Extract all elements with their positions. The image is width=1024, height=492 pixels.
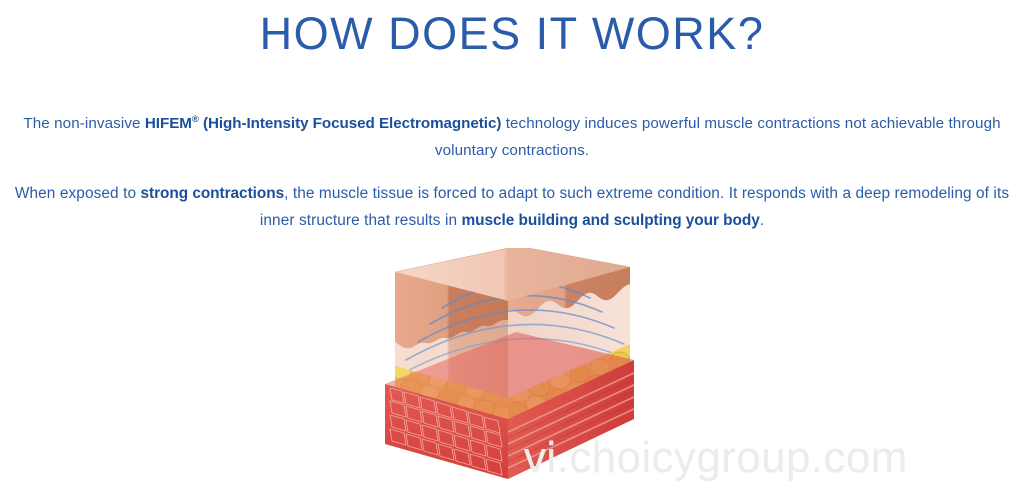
paragraph-hifem-technology: The non-invasive HIFEM® (High-Intensity … [8,110,1016,164]
p2-bold-strong-contractions: strong contractions [141,185,285,202]
p2-segment-1: When exposed to [15,185,141,202]
p1-segment-2: technology induces powerful muscle contr… [435,115,1001,159]
p1-segment-1: The non-invasive [23,115,145,132]
p1-bold-hifem-text: HIFEM [145,115,192,132]
skin-cross-section-svg [368,248,660,492]
p1-bold-expansion: (High-Intensity Focused Electromagnetic) [199,115,502,132]
registered-trademark-icon: ® [192,113,199,124]
p2-segment-3: . [760,212,764,229]
p1-bold-hifem: HIFEM® (High-Intensity Focused Electroma… [145,115,501,132]
p2-bold-muscle-building: muscle building and sculpting your body [462,212,760,229]
how-does-it-work-slide: HOW DOES IT WORK? The non-invasive HIFEM… [0,0,1024,492]
paragraph-muscle-remodeling: When exposed to strong contractions, the… [8,180,1016,234]
skin-cross-section-diagram [368,248,660,492]
page-title: HOW DOES IT WORK? [0,6,1024,62]
